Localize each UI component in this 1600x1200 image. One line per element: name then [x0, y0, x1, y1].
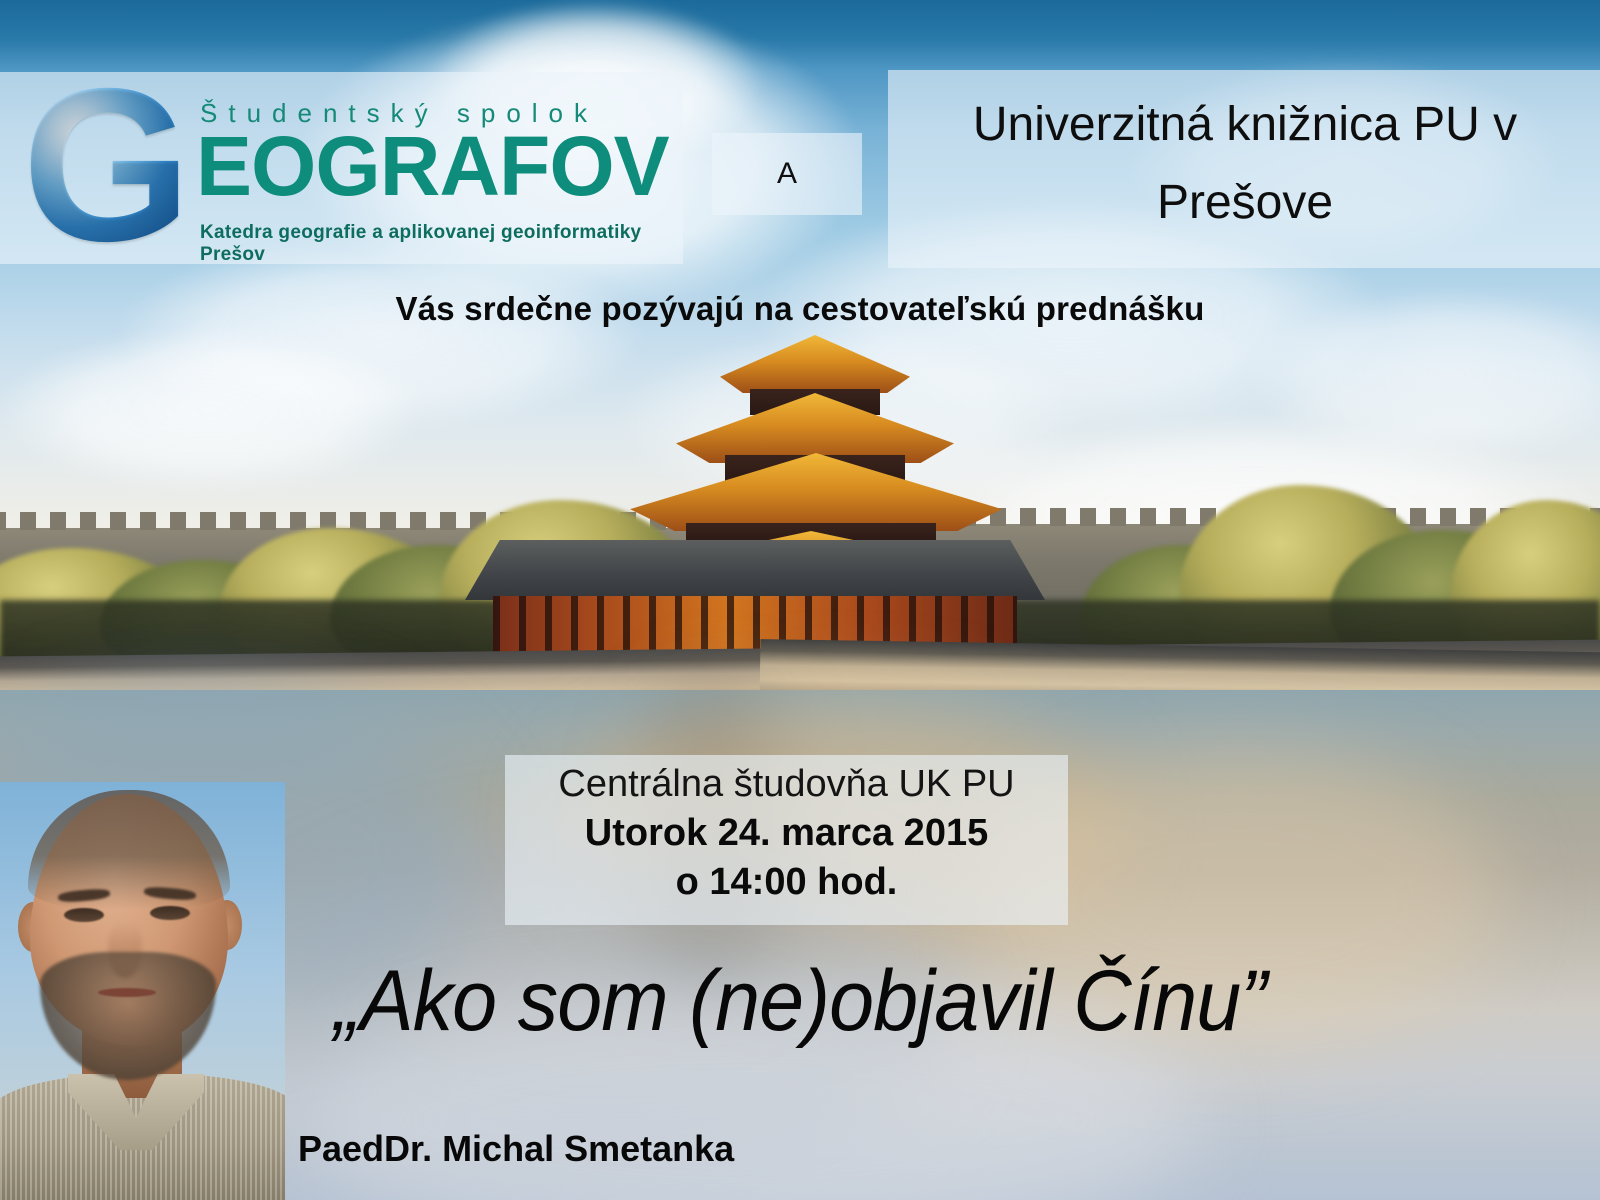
globe-icon: G — [22, 86, 202, 264]
event-venue: Centrálna študovňa UK PU — [505, 755, 1068, 809]
invitation-line: Vás srdečne pozývajú na cestovateľskú pr… — [0, 290, 1600, 328]
globe-letter-g: G — [22, 86, 202, 264]
event-poster: G Študentský spolok EOGRAFOV Katedra geo… — [0, 0, 1600, 1200]
conjunction-label: A — [712, 133, 862, 215]
event-date: Utorok 24. marca 2015 — [505, 809, 1068, 858]
hall-roof — [465, 540, 1045, 600]
portrait-hair — [28, 790, 230, 910]
cloud — [0, 330, 420, 490]
tower-roof-top — [720, 335, 910, 393]
logo-subtitle: Katedra geografie a aplikovanej geoinfor… — [200, 222, 683, 266]
tower-roof-second — [676, 393, 954, 463]
event-time: o 14:00 hod. — [505, 858, 1068, 907]
event-details: Centrálna študovňa UK PU Utorok 24. marc… — [505, 755, 1068, 907]
lecture-title: „Ako som (ne)objavil Čínu” — [48, 952, 1552, 1051]
logo-main-word: EOGRAFOV — [196, 124, 669, 208]
organizer-name: Univerzitná knižnica PU v Prešove — [900, 86, 1590, 242]
geografov-logo: G Študentský spolok EOGRAFOV Katedra geo… — [0, 72, 683, 264]
tower-roof-third — [630, 453, 1002, 531]
speaker-name: PaedDr. Michal Smetanka — [298, 1128, 734, 1170]
portrait-eye — [64, 908, 104, 922]
portrait-eye — [150, 906, 190, 920]
